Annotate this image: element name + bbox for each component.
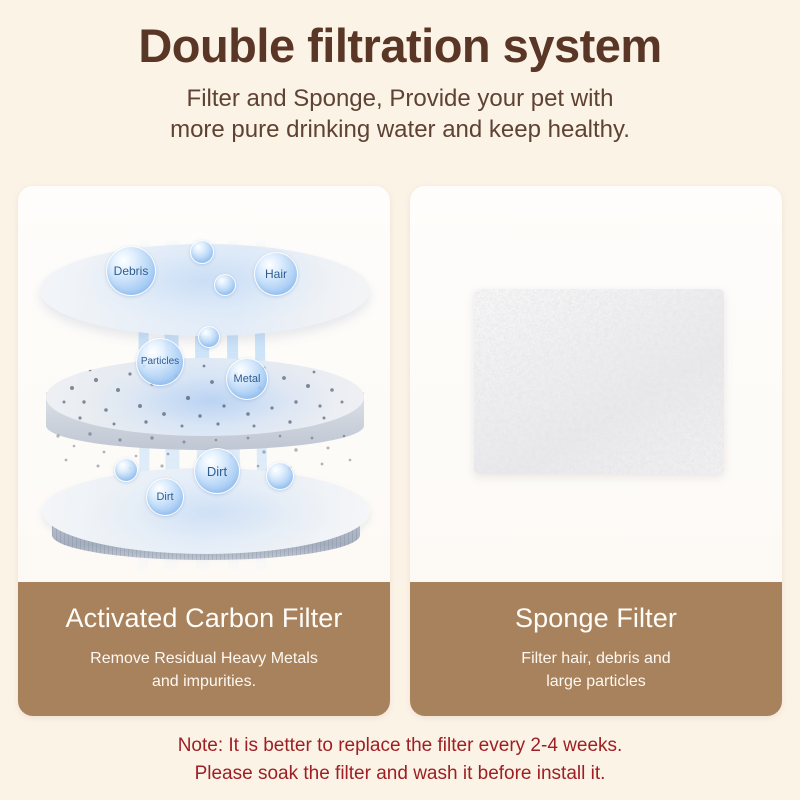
bubble-label-dirt-upper: Dirt: [194, 448, 240, 494]
bubble-decorative-5: [266, 462, 294, 490]
footer-note-line-2: Please soak the filter and wash it befor…: [0, 760, 800, 788]
card-desc-line-1: Remove Residual Heavy Metals: [18, 647, 390, 670]
page-subtitle: Filter and Sponge, Provide your pet with…: [0, 73, 800, 146]
bubble-text-debris: Debris: [114, 265, 149, 277]
bubble-decorative-3: [198, 326, 220, 348]
card-title-sponge: Sponge Filter: [410, 582, 782, 634]
card-activated-carbon-filter[interactable]: Debris Hair Particles Metal: [18, 186, 390, 716]
filter-cards-row: Debris Hair Particles Metal: [18, 186, 782, 716]
sponge-pore-texture-icon: [474, 289, 724, 474]
bubble-label-metal: Metal: [226, 358, 268, 400]
bubble-text-dirt-lower: Dirt: [156, 492, 173, 503]
carbon-disc-top-face: [46, 358, 364, 436]
card-desc-activated-carbon: Remove Residual Heavy Metals and impurit…: [18, 634, 390, 693]
bubble-decorative-4: [114, 458, 138, 482]
card-title-activated-carbon: Activated Carbon Filter: [18, 582, 390, 634]
bubble-text-particles: Particles: [141, 357, 179, 367]
footer-note: Note: It is better to replace the filter…: [0, 732, 800, 788]
infographic-page: Double filtration system Filter and Spon…: [0, 0, 800, 800]
bubble-text-hair: Hair: [265, 268, 287, 280]
bubble-decorative-2: [214, 274, 236, 296]
header: Double filtration system Filter and Spon…: [0, 0, 800, 146]
bubble-text-metal: Metal: [234, 374, 261, 385]
card-desc-sponge: Filter hair, debris and large particles: [410, 634, 782, 693]
bubble-label-dirt-lower: Dirt: [146, 478, 184, 516]
subtitle-line-1: Filter and Sponge, Provide your pet with: [0, 83, 800, 115]
card-desc-line-2: large particles: [410, 670, 782, 693]
card-band-activated-carbon: Activated Carbon Filter Remove Residual …: [18, 582, 390, 716]
carbon-granule-texture-icon: [46, 358, 364, 436]
page-title: Double filtration system: [0, 0, 800, 73]
subtitle-line-2: more pure drinking water and keep health…: [0, 114, 800, 146]
sponge-filter-illustration: [410, 186, 782, 582]
carbon-filter-illustration: Debris Hair Particles Metal: [18, 186, 390, 582]
bubble-label-hair: Hair: [254, 252, 298, 296]
card-band-sponge: Sponge Filter Filter hair, debris and la…: [410, 582, 782, 716]
card-desc-line-2: and impurities.: [18, 670, 390, 693]
bubble-label-debris: Debris: [106, 246, 156, 296]
card-desc-line-1: Filter hair, debris and: [410, 647, 782, 670]
footer-note-line-1: Note: It is better to replace the filter…: [0, 732, 800, 760]
bubble-label-particles: Particles: [136, 338, 184, 386]
bubble-decorative-1: [190, 240, 214, 264]
filter-disc-stack: Debris Hair Particles Metal: [18, 186, 390, 582]
sponge-block: [474, 289, 724, 474]
card-sponge-filter[interactable]: Sponge Filter Filter hair, debris and la…: [410, 186, 782, 716]
bubble-text-dirt-upper: Dirt: [207, 465, 227, 478]
